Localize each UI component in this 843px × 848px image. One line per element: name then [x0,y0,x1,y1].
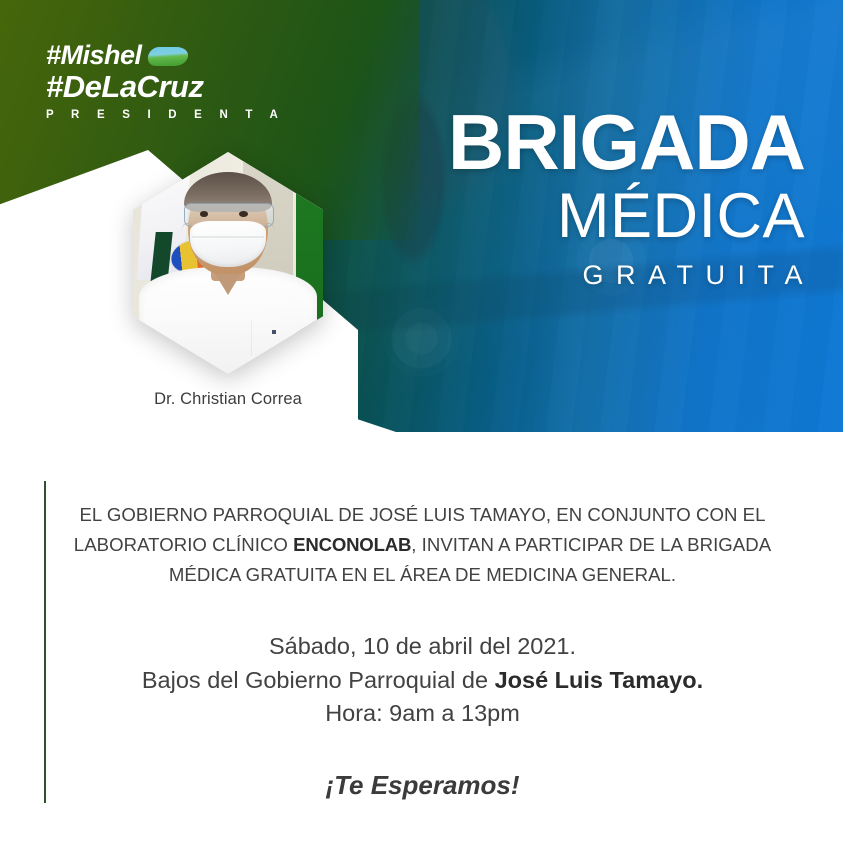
hashtag-icon: # [46,40,61,70]
photo-green-wall [296,152,323,374]
event-details: Sábado, 10 de abril del 2021. Bajos del … [70,630,775,730]
logo-name-first: Mishel [61,40,142,70]
leaf-swoosh-icon [146,47,189,66]
event-time: Hora: 9am a 13pm [70,697,775,730]
title-line-brigada: BRIGADA [448,105,805,180]
photo-coat-pocket [251,321,290,357]
hashtag-icon-2: # [46,69,63,104]
photo-mask-fold [192,236,264,237]
logo-line-2: #DeLaCruz [46,71,246,102]
invitation-paragraph: EL GOBIERNO PARROQUIAL DE JOSÉ LUIS TAMA… [70,500,775,590]
closing-message: ¡Te Esperamos! [70,770,775,801]
doctor-photo-frame [133,152,323,374]
event-location: Bajos del Gobierno Parroquial de José Lu… [70,664,775,697]
photo-doctor-eye-right [239,211,248,217]
photo-pocket-pen [272,330,276,334]
content-block: EL GOBIERNO PARROQUIAL DE JOSÉ LUIS TAMA… [70,500,775,801]
lab-name-highlight: ENCONOLAB [293,534,411,555]
photo-doctor-eye-left [200,211,209,217]
poster-canvas: #Mishel #DeLaCruz P R E S I D E N T A BR… [0,0,843,848]
event-location-prefix: Bajos del Gobierno Parroquial de [142,667,495,693]
doctor-photo-hexagon [133,152,323,374]
doctor-name-caption: Dr. Christian Correa [0,390,456,409]
campaign-logo[interactable]: #Mishel #DeLaCruz P R E S I D E N T A [46,42,246,118]
event-date: Sábado, 10 de abril del 2021. [70,630,775,663]
title-line-medica: MÉDICA [448,182,805,250]
logo-line-1: #Mishel [46,42,246,69]
poster-title: BRIGADA MÉDICA GRATUITA [448,105,805,291]
white-base-strip [0,432,843,470]
left-accent-line [44,481,46,803]
logo-role-label: P R E S I D E N T A [46,109,246,121]
event-location-highlight: José Luis Tamayo. [495,667,704,693]
title-line-gratuita: GRATUITA [448,260,815,291]
logo-name-last: DeLaCruz [63,69,204,104]
